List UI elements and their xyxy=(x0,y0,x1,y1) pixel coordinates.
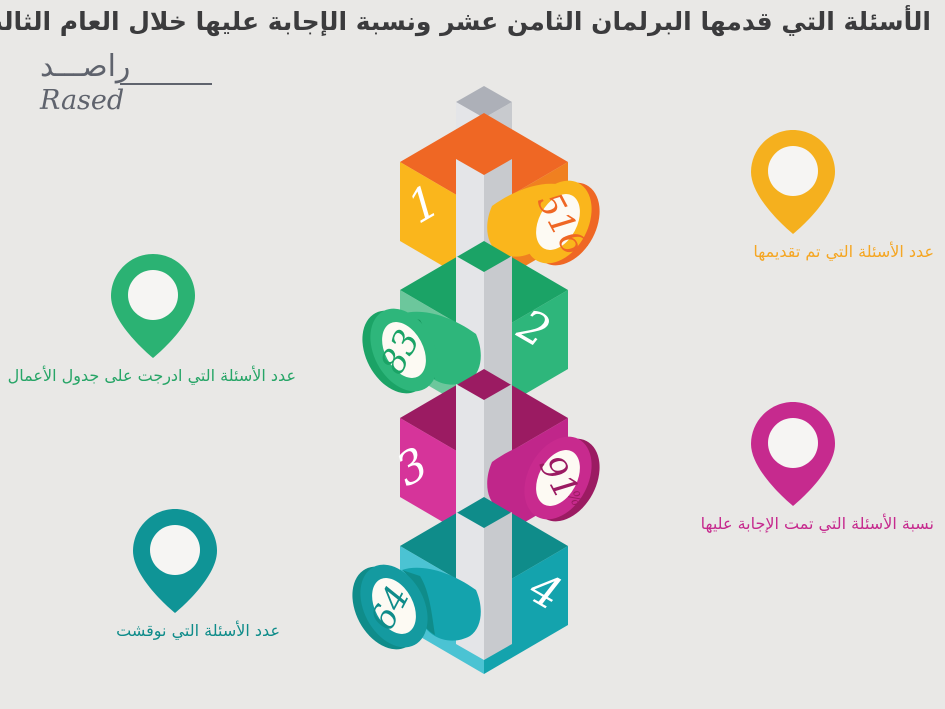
legend-item-agenda[interactable]: عدد الأسئلة التي ادرجت على جدول الأعمال xyxy=(8,250,298,387)
legend-label: عدد الأسئلة التي نوقشت xyxy=(30,621,320,642)
infographic-canvas: الأسئلة التي قدمها البرلمان الثامن عشر و… xyxy=(0,0,945,709)
legend-label: عدد الأسئلة التي تم تقديمها xyxy=(648,242,938,263)
pillar-right-face xyxy=(484,512,512,660)
legend-item-submitted[interactable]: عدد الأسئلة التي تم تقديمها xyxy=(648,126,938,263)
map-pin-icon xyxy=(127,505,223,617)
map-pin-icon xyxy=(745,398,841,510)
legend-item-answered[interactable]: نسبة الأسئلة التي تمت الإجابة عليها xyxy=(648,398,938,535)
legend-label: نسبة الأسئلة التي تمت الإجابة عليها xyxy=(648,514,938,535)
legend-label: عدد الأسئلة التي ادرجت على جدول الأعمال xyxy=(8,366,298,387)
legend-item-discussed[interactable]: عدد الأسئلة التي نوقشت xyxy=(30,505,320,642)
map-pin-icon xyxy=(105,250,201,362)
map-pin-icon xyxy=(745,126,841,238)
